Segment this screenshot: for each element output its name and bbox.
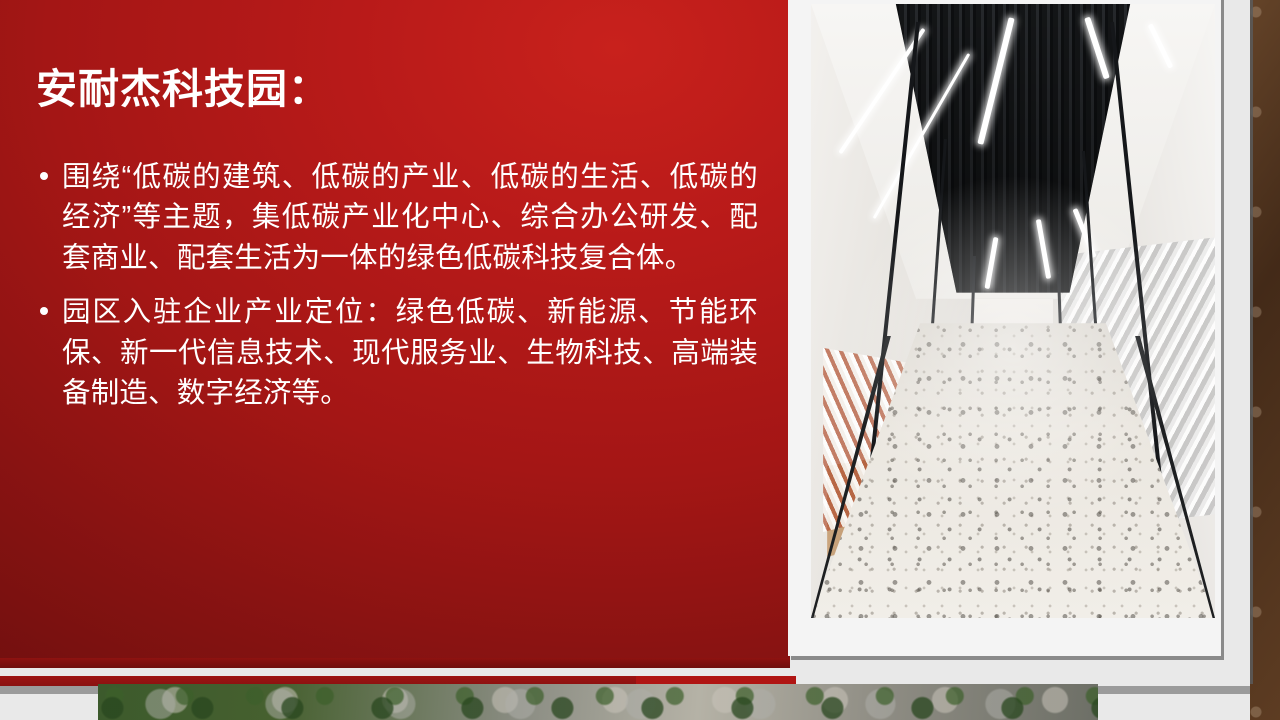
slide-stage: 安耐杰科技园： 围绕“低碳的建筑、低碳的产业、低碳的生活、低碳的经济”等主题，集… xyxy=(0,0,1280,720)
bullet-list: 围绕“低碳的建筑、低碳的产业、低碳的生活、低碳的经济”等主题，集低碳产业化中心、… xyxy=(36,157,758,428)
next-slide-preview[interactable] xyxy=(0,676,1250,720)
page-title: 安耐杰科技园： xyxy=(36,64,330,115)
bullet-item-1: 围绕“低碳的建筑、低碳的产业、低碳的生活、低碳的经济”等主题，集低碳产业化中心、… xyxy=(36,157,758,278)
bullet-item-2: 园区入驻企业产业定位：绿色低碳、新能源、节能环保、新一代信息技术、现代服务业、生… xyxy=(36,292,758,413)
slide-sheet: 安耐杰科技园： 围绕“低碳的建筑、低碳的产业、低碳的生活、低碳的经济”等主题，集… xyxy=(0,0,1250,680)
red-content-panel: 安耐杰科技园： 围绕“低碳的建筑、低碳的产业、低碳的生活、低碳的经济”等主题，集… xyxy=(0,0,790,668)
photo-frame xyxy=(788,0,1221,656)
office-corridor-photo xyxy=(811,4,1215,618)
red-panel-bottom-band xyxy=(0,658,790,668)
next-slide-aerial-photo xyxy=(98,684,1098,720)
